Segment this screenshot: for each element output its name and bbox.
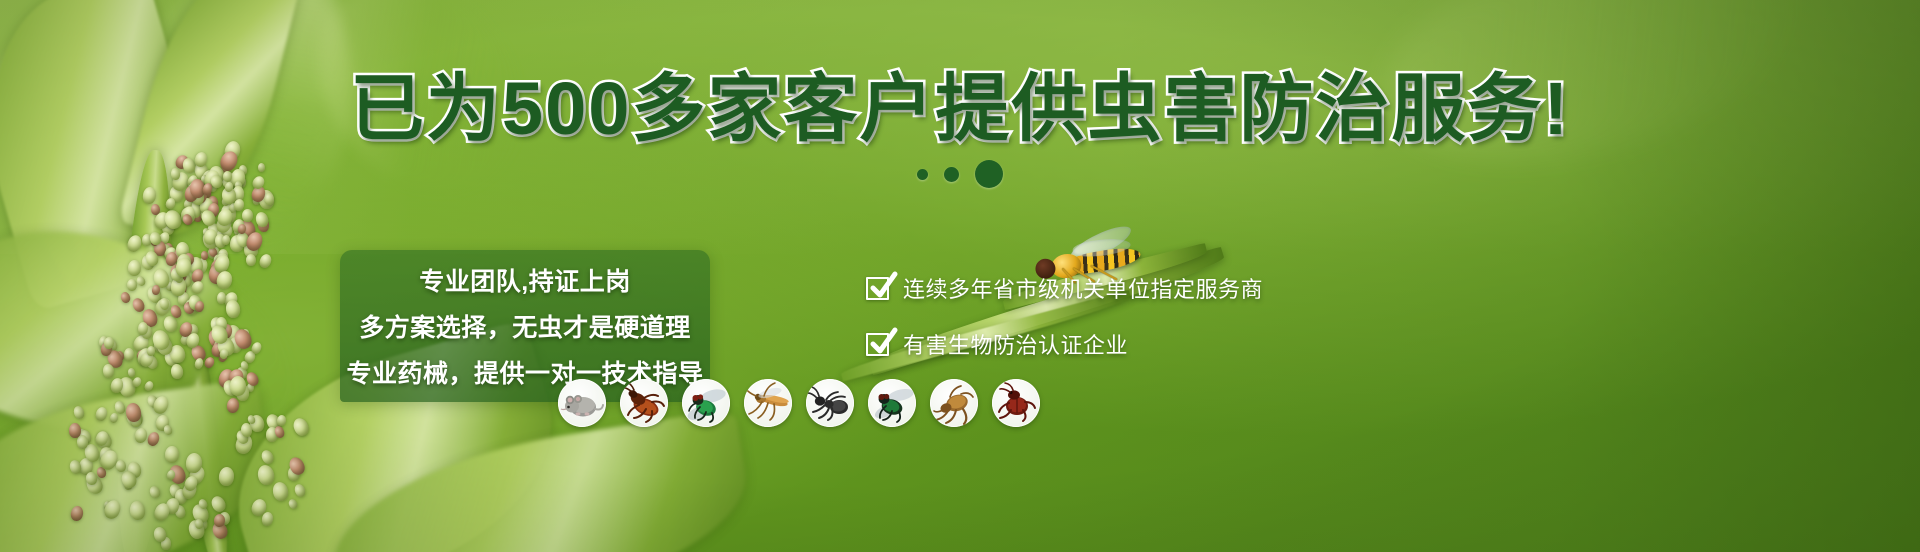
- cockroach-icon[interactable]: [620, 379, 668, 427]
- bedbug-icon[interactable]: [992, 379, 1040, 427]
- pest-icon-row: [558, 379, 1040, 427]
- list-item: 连续多年省市级机关单位指定服务商: [866, 272, 1296, 304]
- page-title: 已为500多家客户提供虫害防治服务!: [0, 72, 1920, 146]
- pest-control-banner: 已为500多家客户提供虫害防治服务! 专业团队,持证上岗 多方案选择，无虫才是硬…: [0, 0, 1920, 552]
- housefly-icon[interactable]: [868, 379, 916, 427]
- checkbox-checked-icon: [866, 331, 892, 357]
- flea-icon[interactable]: [930, 379, 978, 427]
- credential-label: 有害生物防治认证企业: [903, 328, 1128, 360]
- feature-line-2: 多方案选择，无虫才是硬道理: [359, 308, 691, 344]
- medium-dot-icon: [944, 167, 959, 182]
- feature-line-1: 专业团队,持证上岗: [419, 262, 630, 298]
- credentials-checklist: 连续多年省市级机关单位指定服务商 有害生物防治认证企业: [866, 272, 1296, 360]
- decorative-dots: [917, 160, 1003, 188]
- mosquito-icon[interactable]: [744, 379, 792, 427]
- checkbox-checked-icon: [866, 275, 892, 301]
- list-item: 有害生物防治认证企业: [866, 328, 1296, 360]
- credential-label: 连续多年省市级机关单位指定服务商: [903, 272, 1263, 304]
- mouse-icon[interactable]: [558, 379, 606, 427]
- bottle-fly-icon[interactable]: [682, 379, 730, 427]
- ant-icon[interactable]: [806, 379, 854, 427]
- large-dot-icon: [975, 160, 1003, 188]
- small-dot-icon: [917, 169, 928, 180]
